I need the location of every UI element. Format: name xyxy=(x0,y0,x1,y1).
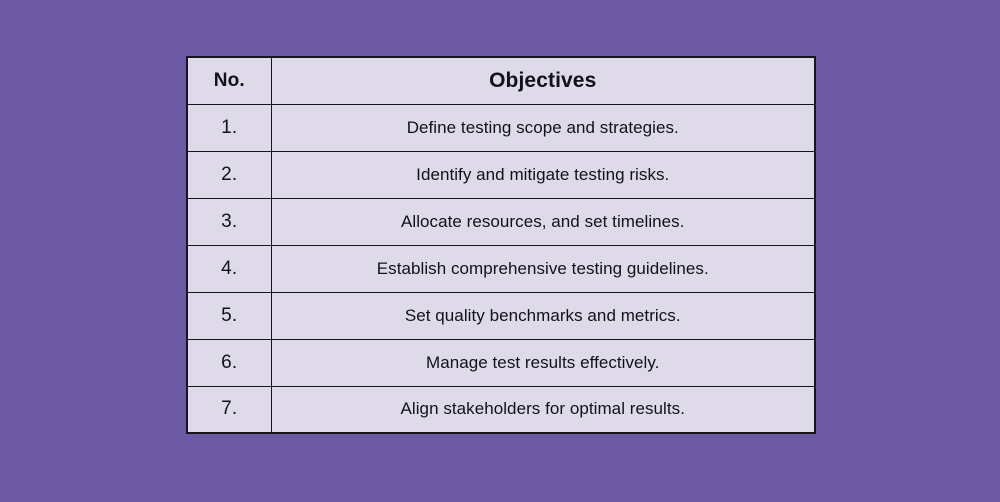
column-header-objectives: Objectives xyxy=(271,57,815,104)
row-number: 6. xyxy=(187,339,271,386)
table-row: 6. Manage test results effectively. xyxy=(187,339,815,386)
row-number: 7. xyxy=(187,386,271,433)
table-row: 5. Set quality benchmarks and metrics. xyxy=(187,292,815,339)
row-number: 1. xyxy=(187,104,271,151)
column-header-no: No. xyxy=(187,57,271,104)
row-number: 3. xyxy=(187,198,271,245)
row-objective: Define testing scope and strategies. xyxy=(271,104,815,151)
table-body: 1. Define testing scope and strategies. … xyxy=(187,104,815,433)
row-number: 5. xyxy=(187,292,271,339)
objectives-table: No. Objectives 1. Define testing scope a… xyxy=(186,56,816,434)
row-objective: Set quality benchmarks and metrics. xyxy=(271,292,815,339)
table-row: 4. Establish comprehensive testing guide… xyxy=(187,245,815,292)
table-header-row: No. Objectives xyxy=(187,57,815,104)
table-row: 7. Align stakeholders for optimal result… xyxy=(187,386,815,433)
table-row: 3. Allocate resources, and set timelines… xyxy=(187,198,815,245)
row-objective: Establish comprehensive testing guidelin… xyxy=(271,245,815,292)
row-number: 4. xyxy=(187,245,271,292)
row-objective: Identify and mitigate testing risks. xyxy=(271,151,815,198)
row-objective: Allocate resources, and set timelines. xyxy=(271,198,815,245)
table-header: No. Objectives xyxy=(187,57,815,104)
table-row: 1. Define testing scope and strategies. xyxy=(187,104,815,151)
page-canvas: No. Objectives 1. Define testing scope a… xyxy=(0,0,1000,502)
row-objective: Manage test results effectively. xyxy=(271,339,815,386)
row-number: 2. xyxy=(187,151,271,198)
row-objective: Align stakeholders for optimal results. xyxy=(271,386,815,433)
table-row: 2. Identify and mitigate testing risks. xyxy=(187,151,815,198)
